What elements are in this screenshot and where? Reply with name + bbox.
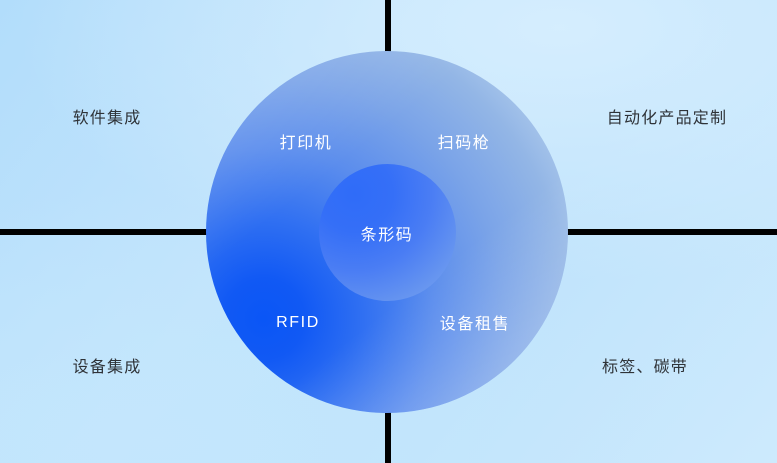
- inner-segment-label-scanner[interactable]: 扫码枪: [438, 129, 491, 153]
- diagram-canvas: 打印机 扫码枪 RFID 设备租售 条形码 软件集成 自动化产品定制 设备集成 …: [0, 0, 777, 463]
- outer-label-automation-customization[interactable]: 自动化产品定制: [607, 104, 727, 128]
- outer-label-labels-ribbons[interactable]: 标签、碳带: [602, 353, 688, 377]
- inner-segment-label-equipment-rental[interactable]: 设备租售: [440, 310, 510, 334]
- inner-segment-label-printer[interactable]: 打印机: [280, 129, 333, 153]
- outer-label-equipment-integration[interactable]: 设备集成: [73, 353, 142, 377]
- outer-label-software-integration[interactable]: 软件集成: [73, 104, 142, 128]
- inner-segment-label-rfid[interactable]: RFID: [276, 314, 320, 332]
- center-core-label[interactable]: 条形码: [361, 221, 414, 245]
